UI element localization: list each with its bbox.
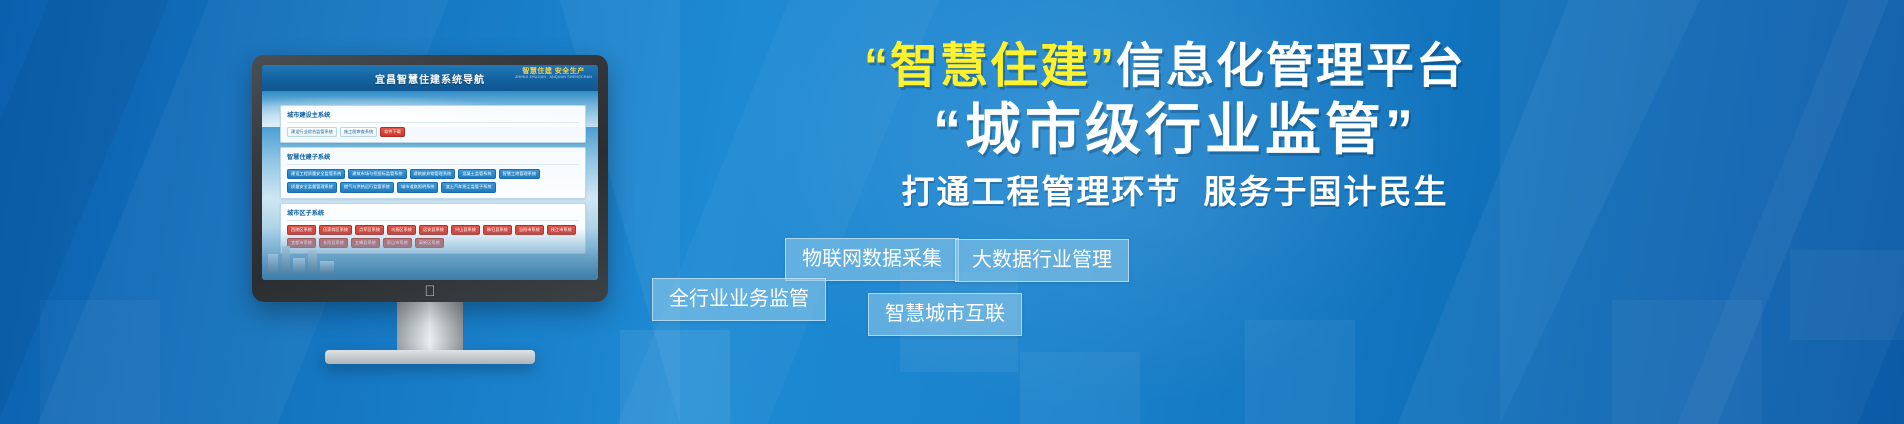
feature-tag-iot-data[interactable]: 物联网数据采集 (785, 238, 959, 281)
decorative-square (1612, 300, 1762, 424)
screen-cityscape-image (262, 228, 598, 280)
decorative-square (40, 300, 160, 424)
system-chip[interactable]: 智慧工地管理系统 (499, 169, 541, 179)
panel-heading: 智慧住建子系统 (287, 152, 579, 165)
headline-line-1: “智慧住建”信息化管理平台 (530, 40, 1800, 94)
headline-highlight: “智慧住建” (864, 40, 1116, 93)
panel-chip-row: 建设行业综合监管系统 施工图审查系统 软件下载 (287, 127, 579, 137)
panel-chip-row: 建设工程质量安全监管系统 建筑市场与招投标监管系统 建筑废弃物管理系统 混凝土监… (287, 169, 579, 192)
headline-rest: 信息化管理平台 (1116, 40, 1466, 93)
download-button[interactable]: 软件下载 (380, 127, 405, 137)
system-chip[interactable]: 城市道路照明系统 (397, 182, 439, 192)
headline-line-3-part-b: 服务于国计民生 (1204, 173, 1449, 210)
system-chip[interactable]: 混凝土监管系统 (458, 169, 495, 179)
system-chip[interactable]: 施工图审查系统 (340, 127, 377, 137)
system-chip[interactable]: 渣土汽车扬尘监管子系统 (441, 182, 495, 192)
decorative-square (1020, 352, 1140, 424)
panel-heading: 城市建设主系统 (287, 110, 579, 123)
panel-heading: 城市区子系统 (287, 208, 579, 221)
system-chip[interactable]: 质量安全监督管理系统 (287, 182, 337, 192)
headline-line-3: 打通工程管理环节服务于国计民生 (550, 172, 1800, 212)
headline-block: “智慧住建”信息化管理平台 “城市级行业监管” 打通工程管理环节服务于国计民生 (650, 40, 1800, 212)
monitor-stand-neck (397, 300, 463, 352)
system-chip[interactable]: 燃气与供热运行监管系统 (340, 182, 394, 192)
decorative-square (1245, 320, 1355, 424)
screen-title: 宜昌智慧住建系统导航 (375, 71, 485, 86)
monitor-stand-base (325, 350, 535, 364)
screen-panel-main-system: 城市建设主系统 建设行业综合监管系统 施工图审查系统 软件下载 (280, 105, 586, 143)
headline-line-3-part-a: 打通工程管理环节 (902, 173, 1182, 210)
system-chip[interactable]: 建筑市场与招投标监管系统 (348, 169, 406, 179)
screen-panel-sub-system: 智慧住建子系统 建设工程质量安全监管系统 建筑市场与招投标监管系统 建筑废弃物管… (280, 147, 586, 198)
decorative-square (620, 330, 730, 424)
headline-line-2: “城市级行业监管” (550, 98, 1800, 162)
feature-tag-bigdata-management[interactable]: 大数据行业管理 (955, 239, 1129, 282)
feature-tag-industry-supervision[interactable]: 全行业业务监管 (652, 278, 826, 321)
system-chip[interactable]: 建设工程质量安全监管系统 (287, 169, 345, 179)
apple-logo-icon:  (424, 284, 435, 299)
monitor-screen: 宜昌智慧住建系统导航 智慧住建 安全生产 ZHIHUI ZHUJIAN . AN… (262, 65, 598, 280)
feature-tag-smart-city[interactable]: 智慧城市互联 (868, 293, 1022, 336)
decorative-square (1790, 250, 1904, 340)
promo-banner: 宜昌智慧住建系统导航 智慧住建 安全生产 ZHIHUI ZHUJIAN . AN… (0, 0, 1904, 424)
system-chip[interactable]: 建筑废弃物管理系统 (410, 169, 456, 179)
system-chip[interactable]: 建设行业综合监管系统 (287, 127, 337, 137)
